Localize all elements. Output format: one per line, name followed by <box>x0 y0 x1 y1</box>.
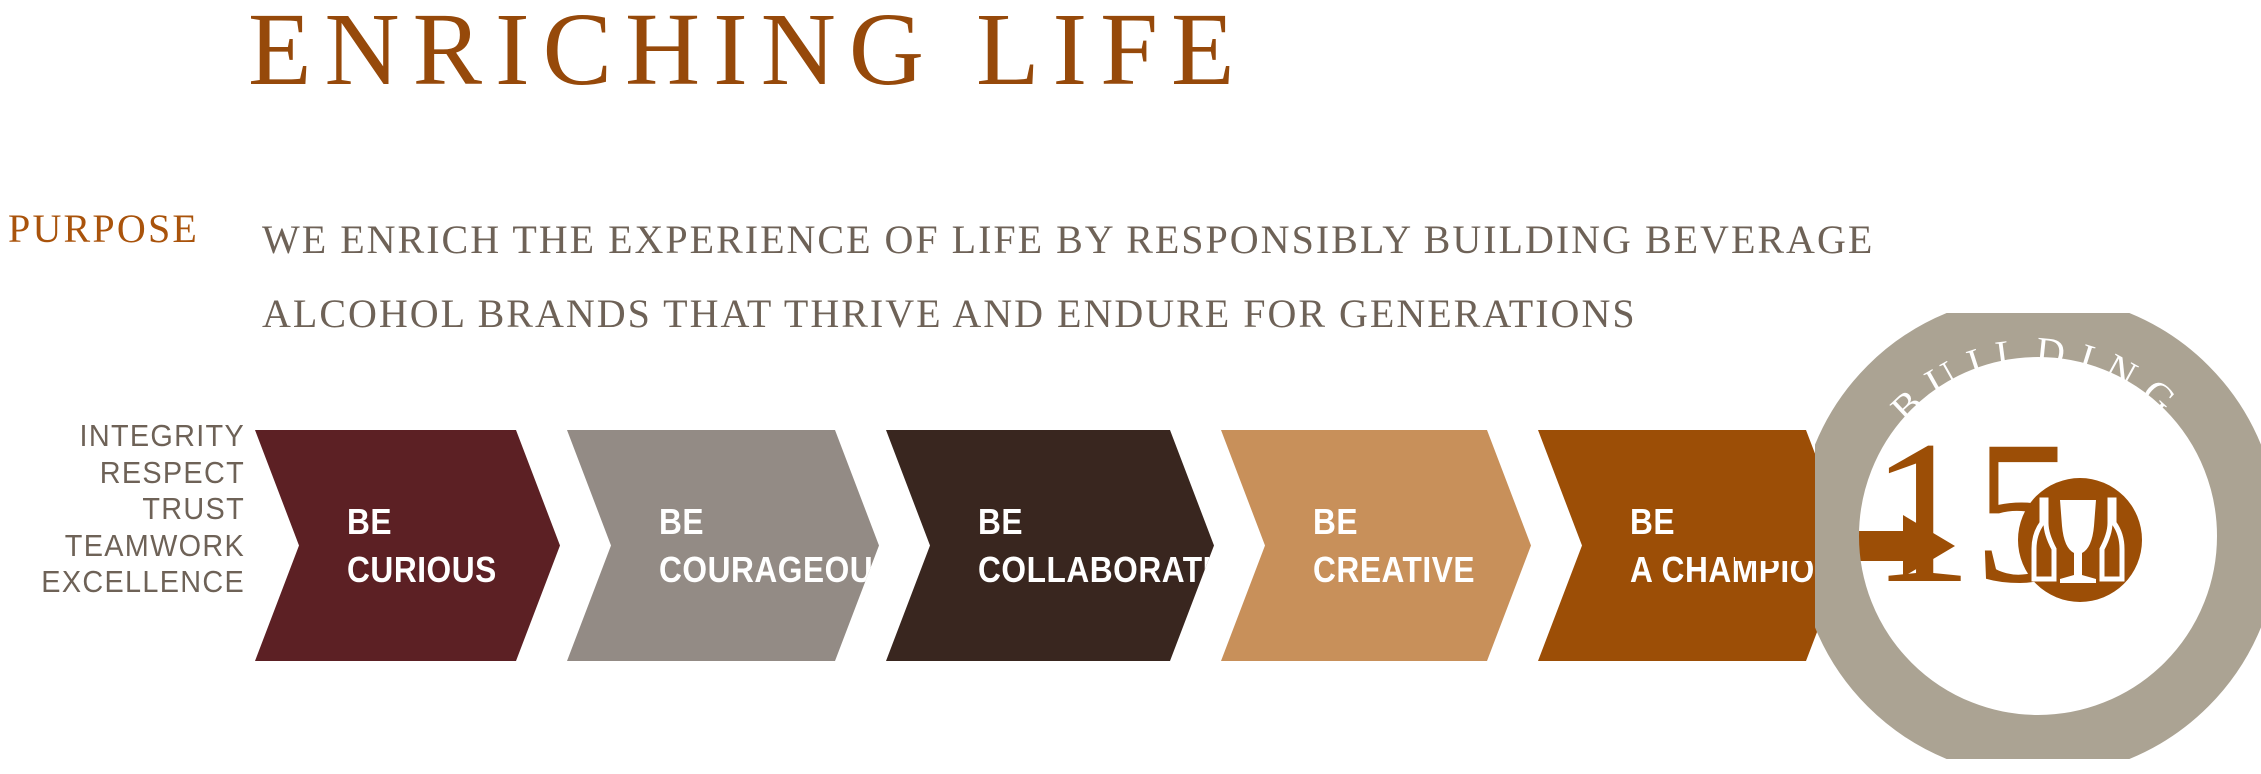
behavior-line-1: BE <box>978 498 1255 546</box>
behavior-line-2: COLLABORATIVE <box>978 546 1255 594</box>
behavior-line-2: CREATIVE <box>1313 546 1475 594</box>
values-list: INTEGRITY RESPECT TRUST TEAMWORK EXCELLE… <box>10 418 245 601</box>
value-item-integrity: INTEGRITY <box>26 418 245 455</box>
behavior-line-1: BE <box>347 498 497 546</box>
behavior-chevron-courageous[interactable]: BE COURAGEOUS <box>567 430 879 661</box>
purpose-statement-line-1: WE ENRICH THE EXPERIENCE OF LIFE BY RESP… <box>262 203 1782 277</box>
building-forever-150-badge: BUILDING FOREVER 15 <box>1815 313 2261 759</box>
behavior-chevron-creative[interactable]: BE CREATIVE <box>1221 430 1531 661</box>
purpose-label: PURPOSE <box>8 205 199 252</box>
page-title: ENRICHING LIFE <box>248 0 1247 106</box>
behavior-chevron-collaborative-text: BE COLLABORATIVE <box>978 498 1293 594</box>
behavior-chevron-collaborative[interactable]: BE COLLABORATIVE <box>886 430 1214 661</box>
behavior-line-1: BE <box>1313 498 1475 546</box>
purpose-statement: WE ENRICH THE EXPERIENCE OF LIFE BY RESP… <box>262 203 1782 351</box>
value-item-trust: TRUST <box>26 491 245 528</box>
behavior-line-1: BE <box>659 498 895 546</box>
behavior-chevron-creative-text: BE CREATIVE <box>1313 498 1497 594</box>
value-item-respect: RESPECT <box>26 455 245 492</box>
behavior-line-2: CURIOUS <box>347 546 497 594</box>
behavior-chevron-curious[interactable]: BE CURIOUS <box>255 430 560 661</box>
behavior-chevron-courageous-text: BE COURAGEOUS <box>659 498 927 594</box>
purpose-statement-line-2: ALCOHOL BRANDS THAT THRIVE AND ENDURE FO… <box>262 277 1782 351</box>
behavior-line-2: COURAGEOUS <box>659 546 895 594</box>
value-item-excellence: EXCELLENCE <box>26 564 245 601</box>
value-item-teamwork: TEAMWORK <box>26 528 245 565</box>
behavior-chevron-curious-text: BE CURIOUS <box>347 498 517 594</box>
